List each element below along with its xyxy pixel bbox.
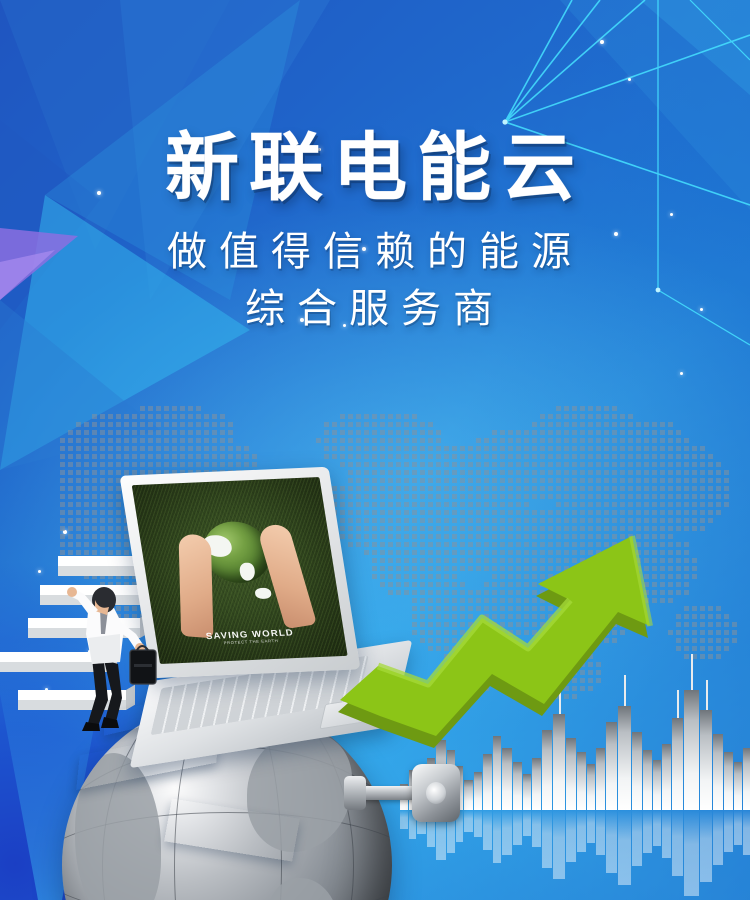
map-dot — [572, 494, 577, 499]
map-dot — [596, 414, 601, 419]
map-dot — [212, 446, 217, 451]
building-reflection — [743, 810, 750, 855]
map-dot — [76, 486, 81, 491]
map-dot — [204, 446, 209, 451]
map-dot — [372, 438, 377, 443]
map-dot — [140, 430, 145, 435]
map-dot — [148, 422, 153, 427]
map-dot — [100, 518, 105, 523]
map-dot — [100, 422, 105, 427]
map-dot — [540, 478, 545, 483]
map-dot — [556, 430, 561, 435]
map-dot — [92, 502, 97, 507]
map-dot — [212, 414, 217, 419]
map-dot — [132, 446, 137, 451]
map-dot — [60, 470, 65, 475]
businessman-figure — [48, 576, 158, 736]
map-dot — [684, 494, 689, 499]
map-dot — [404, 462, 409, 467]
map-dot — [236, 454, 241, 459]
map-dot — [332, 438, 337, 443]
map-dot — [700, 478, 705, 483]
map-dot — [84, 510, 89, 515]
map-dot — [628, 486, 633, 491]
map-dot — [84, 478, 89, 483]
building-reflection — [587, 810, 595, 843]
map-dot — [180, 406, 185, 411]
subtitle-line-1: 做值得信赖的能源 — [0, 224, 750, 281]
map-dot — [524, 446, 529, 451]
map-dot — [84, 494, 89, 499]
map-dot — [628, 462, 633, 467]
map-dot — [132, 414, 137, 419]
map-dot — [492, 438, 497, 443]
map-dot — [596, 478, 601, 483]
map-dot — [596, 406, 601, 411]
map-dot — [84, 462, 89, 467]
map-dot — [92, 518, 97, 523]
map-dot — [452, 454, 457, 459]
map-dot — [108, 422, 113, 427]
map-dot — [708, 486, 713, 491]
map-dot — [252, 462, 257, 467]
map-dot — [364, 430, 369, 435]
map-dot — [524, 486, 529, 491]
map-dot — [516, 494, 521, 499]
map-dot — [476, 470, 481, 475]
map-dot — [660, 462, 665, 467]
map-dot — [676, 446, 681, 451]
map-dot — [84, 518, 89, 523]
map-dot — [732, 638, 737, 643]
map-dot — [124, 454, 129, 459]
map-dot — [132, 422, 137, 427]
map-dot — [604, 478, 609, 483]
map-dot — [460, 494, 465, 499]
map-dot — [388, 430, 393, 435]
map-dot — [140, 414, 145, 419]
map-dot — [108, 454, 113, 459]
building-reflection — [483, 810, 492, 850]
map-dot — [700, 622, 705, 627]
map-dot — [220, 438, 225, 443]
map-dot — [100, 486, 105, 491]
building — [513, 762, 522, 810]
map-dot — [732, 630, 737, 635]
map-dot — [548, 470, 553, 475]
map-dot — [588, 406, 593, 411]
map-dot — [540, 454, 545, 459]
map-dot — [68, 494, 73, 499]
map-dot — [684, 462, 689, 467]
map-dot — [340, 430, 345, 435]
map-dot — [524, 494, 529, 499]
map-dot — [572, 486, 577, 491]
map-dot — [636, 486, 641, 491]
map-dot — [532, 422, 537, 427]
map-dot — [604, 414, 609, 419]
map-dot — [580, 478, 585, 483]
map-dot — [148, 430, 153, 435]
building — [577, 752, 586, 810]
map-dot — [132, 438, 137, 443]
map-dot — [396, 454, 401, 459]
map-dot — [652, 478, 657, 483]
map-dot — [388, 454, 393, 459]
map-dot — [396, 438, 401, 443]
map-dot — [76, 446, 81, 451]
map-dot — [76, 478, 81, 483]
map-dot — [196, 430, 201, 435]
map-dot — [244, 462, 249, 467]
building — [483, 754, 492, 810]
map-dot — [676, 470, 681, 475]
sparkle-dot — [680, 372, 683, 375]
map-dot — [668, 470, 673, 475]
map-dot — [196, 414, 201, 419]
map-dot — [724, 470, 729, 475]
map-dot — [412, 422, 417, 427]
map-dot — [380, 414, 385, 419]
map-dot — [484, 454, 489, 459]
map-dot — [116, 446, 121, 451]
map-dot — [540, 422, 545, 427]
map-dot — [524, 462, 529, 467]
map-dot — [180, 454, 185, 459]
green-growth-arrow — [330, 500, 700, 760]
map-dot — [508, 438, 513, 443]
map-dot — [340, 446, 345, 451]
map-dot — [68, 446, 73, 451]
map-dot — [660, 494, 665, 499]
map-dot — [68, 462, 73, 467]
map-dot — [708, 502, 713, 507]
map-dot — [212, 430, 217, 435]
map-dot — [228, 462, 233, 467]
map-dot — [180, 430, 185, 435]
map-dot — [564, 422, 569, 427]
map-dot — [724, 614, 729, 619]
map-dot — [572, 422, 577, 427]
map-dot — [92, 526, 97, 531]
map-dot — [492, 462, 497, 467]
map-dot — [228, 438, 233, 443]
map-dot — [684, 438, 689, 443]
map-dot — [212, 454, 217, 459]
map-dot — [708, 638, 713, 643]
map-dot — [612, 446, 617, 451]
map-dot — [340, 462, 345, 467]
map-dot — [212, 438, 217, 443]
map-dot — [620, 486, 625, 491]
map-dot — [452, 494, 457, 499]
hand-left — [178, 533, 213, 638]
map-dot — [532, 478, 537, 483]
map-dot — [404, 438, 409, 443]
building — [474, 772, 482, 810]
map-dot — [604, 470, 609, 475]
map-dot — [316, 438, 321, 443]
map-dot — [108, 526, 113, 531]
map-dot — [428, 470, 433, 475]
map-dot — [76, 430, 81, 435]
map-dot — [84, 550, 89, 555]
map-dot — [636, 478, 641, 483]
map-dot — [164, 454, 169, 459]
map-dot — [404, 446, 409, 451]
map-dot — [428, 454, 433, 459]
building-reflection — [553, 810, 565, 879]
map-dot — [492, 494, 497, 499]
map-dot — [68, 486, 73, 491]
map-dot — [444, 470, 449, 475]
map-dot — [76, 462, 81, 467]
map-dot — [180, 446, 185, 451]
map-dot — [172, 414, 177, 419]
map-dot — [628, 454, 633, 459]
map-dot — [708, 462, 713, 467]
map-dot — [324, 438, 329, 443]
map-dot — [612, 470, 617, 475]
map-dot — [396, 446, 401, 451]
map-dot — [676, 486, 681, 491]
map-dot — [612, 438, 617, 443]
map-dot — [420, 470, 425, 475]
map-dot — [564, 486, 569, 491]
map-dot — [708, 494, 713, 499]
map-dot — [428, 494, 433, 499]
map-dot — [532, 438, 537, 443]
map-dot — [500, 486, 505, 491]
map-dot — [404, 422, 409, 427]
map-dot — [148, 462, 153, 467]
map-dot — [140, 454, 145, 459]
map-dot — [676, 438, 681, 443]
map-dot — [508, 494, 513, 499]
map-dot — [636, 454, 641, 459]
map-dot — [76, 494, 81, 499]
map-dot — [356, 454, 361, 459]
map-dot — [652, 470, 657, 475]
map-dot — [76, 510, 81, 515]
building — [724, 752, 733, 810]
map-dot — [356, 422, 361, 427]
map-dot — [428, 446, 433, 451]
map-dot — [540, 486, 545, 491]
map-dot — [116, 462, 121, 467]
map-dot — [68, 438, 73, 443]
map-dot — [164, 446, 169, 451]
map-dot — [596, 470, 601, 475]
map-dot — [612, 430, 617, 435]
building-reflection — [464, 810, 473, 832]
map-dot — [60, 486, 65, 491]
map-dot — [684, 470, 689, 475]
map-dot — [92, 478, 97, 483]
building-reflection — [724, 810, 733, 852]
map-dot — [644, 494, 649, 499]
map-dot — [716, 462, 721, 467]
map-dot — [84, 454, 89, 459]
map-dot — [436, 438, 441, 443]
map-dot — [452, 462, 457, 467]
map-dot — [612, 422, 617, 427]
map-dot — [500, 454, 505, 459]
map-dot — [100, 550, 105, 555]
map-dot — [84, 502, 89, 507]
map-dot — [628, 494, 633, 499]
map-dot — [532, 494, 537, 499]
map-dot — [84, 526, 89, 531]
map-dot — [436, 462, 441, 467]
map-dot — [724, 494, 729, 499]
map-dot — [684, 454, 689, 459]
map-dot — [156, 414, 161, 419]
map-dot — [108, 494, 113, 499]
map-dot — [604, 406, 609, 411]
map-dot — [164, 414, 169, 419]
map-dot — [564, 414, 569, 419]
building — [743, 748, 750, 810]
map-dot — [660, 454, 665, 459]
map-dot — [580, 446, 585, 451]
map-dot — [204, 454, 209, 459]
building — [532, 758, 541, 810]
map-dot — [156, 438, 161, 443]
map-dot — [476, 454, 481, 459]
map-dot — [548, 486, 553, 491]
map-dot — [652, 422, 657, 427]
map-dot — [68, 526, 73, 531]
map-dot — [604, 446, 609, 451]
map-dot — [500, 478, 505, 483]
map-dot — [332, 446, 337, 451]
sparkle-dot — [600, 40, 604, 44]
map-dot — [460, 478, 465, 483]
map-dot — [60, 542, 65, 547]
map-dot — [500, 446, 505, 451]
map-dot — [700, 502, 705, 507]
map-dot — [76, 518, 81, 523]
map-dot — [364, 446, 369, 451]
building-reflection — [493, 810, 501, 863]
map-dot — [332, 454, 337, 459]
map-dot — [452, 470, 457, 475]
map-dot — [436, 478, 441, 483]
map-dot — [100, 534, 105, 539]
map-dot — [356, 462, 361, 467]
building-reflection — [474, 810, 482, 837]
map-dot — [68, 550, 73, 555]
map-dot — [420, 438, 425, 443]
map-dot — [372, 430, 377, 435]
map-dot — [660, 446, 665, 451]
map-dot — [204, 414, 209, 419]
map-dot — [628, 422, 633, 427]
map-dot — [236, 462, 241, 467]
map-dot — [428, 486, 433, 491]
map-dot — [60, 550, 65, 555]
map-dot — [164, 406, 169, 411]
map-dot — [716, 638, 721, 643]
map-dot — [636, 446, 641, 451]
map-dot — [108, 438, 113, 443]
map-dot — [580, 486, 585, 491]
map-dot — [484, 462, 489, 467]
map-dot — [420, 430, 425, 435]
map-dot — [60, 510, 65, 515]
map-dot — [660, 486, 665, 491]
map-dot — [108, 414, 113, 419]
map-dot — [548, 414, 553, 419]
map-dot — [92, 534, 97, 539]
map-dot — [60, 462, 65, 467]
map-dot — [140, 446, 145, 451]
map-dot — [108, 502, 113, 507]
map-dot — [636, 462, 641, 467]
map-dot — [684, 478, 689, 483]
map-dot — [420, 454, 425, 459]
map-dot — [516, 438, 521, 443]
map-dot — [84, 430, 89, 435]
map-dot — [580, 414, 585, 419]
map-dot — [700, 614, 705, 619]
map-dot — [204, 438, 209, 443]
map-dot — [364, 462, 369, 467]
map-dot — [412, 430, 417, 435]
map-dot — [660, 430, 665, 435]
map-dot — [220, 414, 225, 419]
map-dot — [588, 470, 593, 475]
map-dot — [156, 462, 161, 467]
map-dot — [580, 406, 585, 411]
map-dot — [108, 470, 113, 475]
map-dot — [676, 494, 681, 499]
map-dot — [548, 446, 553, 451]
map-dot — [412, 462, 417, 467]
map-dot — [244, 454, 249, 459]
map-dot — [100, 430, 105, 435]
map-dot — [76, 422, 81, 427]
map-dot — [468, 454, 473, 459]
map-dot — [724, 478, 729, 483]
map-dot — [92, 438, 97, 443]
map-dot — [468, 470, 473, 475]
map-dot — [572, 462, 577, 467]
headline-block: 新联电能云 做值得信赖的能源 综合服务商 — [0, 128, 750, 338]
map-dot — [668, 454, 673, 459]
map-dot — [132, 454, 137, 459]
map-dot — [708, 510, 713, 515]
map-dot — [420, 422, 425, 427]
map-dot — [700, 654, 705, 659]
map-dot — [444, 462, 449, 467]
map-dot — [652, 494, 657, 499]
map-dot — [420, 494, 425, 499]
map-dot — [532, 430, 537, 435]
map-dot — [700, 462, 705, 467]
map-dot — [204, 462, 209, 467]
map-dot — [644, 438, 649, 443]
map-dot — [60, 502, 65, 507]
map-dot — [324, 446, 329, 451]
map-dot — [108, 510, 113, 515]
map-dot — [572, 446, 577, 451]
map-dot — [380, 430, 385, 435]
map-dot — [644, 446, 649, 451]
map-dot — [596, 430, 601, 435]
map-dot — [580, 430, 585, 435]
